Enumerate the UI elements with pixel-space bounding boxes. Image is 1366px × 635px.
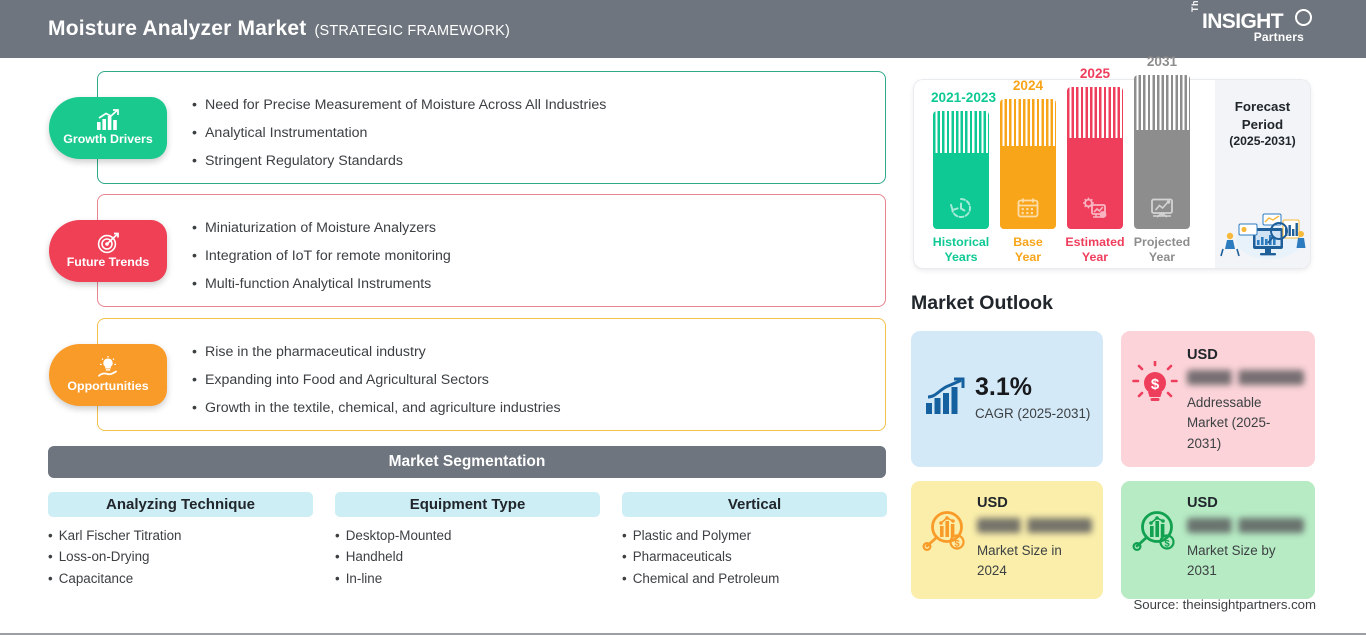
timeline-bar: [1067, 87, 1123, 229]
timeline-bar-striped-top: [933, 111, 989, 153]
segment-list-item: Capacitance: [48, 572, 182, 585]
outlook-card-market-size-2024[interactable]: $ USD Market Size in 2024: [911, 481, 1103, 599]
timeline-bar: [933, 111, 989, 229]
timeline-column-1: 2024 BaseYear: [998, 80, 1058, 268]
driver-list-item: Rise in the pharmaceutical industry: [192, 345, 561, 359]
timeline-bar-name: ProjectedYear: [1124, 235, 1200, 264]
driver-list-2: Rise in the pharmaceutical industryExpan…: [192, 345, 561, 430]
timeline-column-0: 2021-2023 HistoricalYears: [931, 80, 991, 268]
segment-header-text: Vertical: [728, 496, 781, 513]
segmentation-title-bar: Market Segmentation: [48, 446, 886, 478]
logo-the-text: The: [1190, 0, 1200, 12]
magnifier-chart-dollar-icon: $: [1132, 495, 1178, 599]
segment-list-item: In-line: [335, 572, 451, 585]
outlook-card-cagr[interactable]: 3.1% CAGR (2025-2031): [911, 331, 1103, 467]
infographic-canvas: Moisture Analyzer Market(STRATEGIC FRAME…: [0, 0, 1366, 635]
bar-chart-arrow-up-icon: [924, 377, 966, 422]
driver-badge-opportunities[interactable]: Opportunities: [49, 344, 167, 406]
timeline-panel: 2021-2023 HistoricalYears 2024 BaseYear …: [914, 80, 1310, 268]
timeline-bar-solid: [1000, 146, 1056, 229]
timeline-column-2: 2025 EstimatedYear: [1065, 80, 1125, 268]
analytics-dashboard-illustration-icon: [1217, 200, 1309, 262]
driver-list-0: Need for Precise Measurement of Moisture…: [192, 98, 606, 183]
card-caption: Market Size in 2024: [977, 541, 1092, 582]
timeline-year-label: 2024: [998, 78, 1058, 93]
driver-badge-future-trends[interactable]: Future Trends: [49, 220, 167, 282]
card-caption: Market Size by 2031: [1187, 541, 1304, 582]
insight-partners-logo: The INSIGHT Partners: [1190, 10, 1310, 50]
lightbulb-dollar-icon: $: [1132, 361, 1178, 405]
driver-list-1: Miniaturization of Moisture AnalyzersInt…: [192, 221, 451, 306]
driver-list-item: Need for Precise Measurement of Moisture…: [192, 98, 606, 112]
segment-list-item: Loss-on-Drying: [48, 550, 182, 563]
segment-header-text: Analyzing Technique: [106, 496, 255, 513]
svg-text:$: $: [1164, 539, 1170, 550]
driver-list-item: Multi-function Analytical Instruments: [192, 277, 451, 291]
forecast-range: (2025-2031): [1229, 134, 1295, 148]
timeline-year-label: 2031: [1132, 54, 1192, 69]
segment-list-0: Karl Fischer TitrationLoss-on-DryingCapa…: [48, 529, 182, 593]
driver-list-item: Growth in the textile, chemical, and agr…: [192, 401, 561, 415]
card-currency-label: USD: [977, 495, 1092, 511]
timeline-column-3: 2031 ProjectedYear: [1132, 80, 1192, 268]
driver-badge-label: Growth Drivers: [63, 132, 153, 146]
cagr-caption: CAGR (2025-2031): [975, 404, 1090, 424]
driver-list-item: Stringent Regulatory Standards: [192, 154, 606, 168]
driver-list-item: Expanding into Food and Agricultural Sec…: [192, 373, 561, 387]
timeline-bar-striped-top: [1134, 75, 1190, 130]
outlook-card-market-size-2031[interactable]: $ USD Market Size by 2031: [1121, 481, 1315, 599]
svg-text:$: $: [1151, 376, 1160, 393]
timeline-bar-striped-top: [1000, 99, 1056, 146]
magnifier-chart-dollar-icon: $: [922, 509, 968, 553]
timeline-bar-name: HistoricalYears: [923, 235, 999, 264]
timeline-bar-striped-top: [1067, 87, 1123, 138]
timeline-bar-solid: [933, 153, 989, 229]
cagr-value: 3.1%: [975, 374, 1090, 402]
magnifier-chart-dollar-icon: $: [1132, 509, 1178, 553]
page-title-text: Moisture Analyzer Market: [48, 17, 306, 40]
page-subtitle-text: (STRATEGIC FRAMEWORK): [314, 23, 510, 39]
segment-list-item: Karl Fischer Titration: [48, 529, 182, 542]
page-header: Moisture Analyzer Market(STRATEGIC FRAME…: [0, 0, 1366, 58]
source-text: Source: theinsightpartners.com: [1133, 597, 1316, 612]
forecast-period-panel: Forecast Period (2025-2031): [1215, 80, 1310, 268]
segment-list-1: Desktop-MountedHandheldIn-line: [335, 529, 451, 593]
logo-partners-text: Partners: [1254, 30, 1304, 44]
driver-badge-label: Opportunities: [67, 379, 148, 393]
segment-list-item: Chemical and Petroleum: [622, 572, 779, 585]
page-title: Moisture Analyzer Market(STRATEGIC FRAME…: [48, 17, 510, 41]
timeline-year-label: 2021-2023: [931, 90, 991, 105]
card-caption: Addressable Market (2025-2031): [1187, 393, 1304, 454]
segment-list-item: Desktop-Mounted: [335, 529, 451, 542]
timeline-bar-solid: [1067, 138, 1123, 229]
card-blurred-value: [1187, 370, 1304, 385]
magnifier-chart-dollar-icon: $: [922, 495, 968, 599]
lightbulb-dollar-icon: $: [1132, 347, 1178, 467]
card-blurred-value: [1187, 518, 1304, 533]
segmentation-title-text: Market Segmentation: [389, 453, 546, 471]
timeline-bar: [1000, 99, 1056, 229]
segment-header-1: Equipment Type: [335, 492, 600, 517]
segment-list-item: Pharmaceuticals: [622, 550, 779, 563]
card-blurred-value: [977, 518, 1092, 533]
card-currency-label: USD: [1187, 347, 1304, 363]
segment-list-item: Plastic and Polymer: [622, 529, 779, 542]
driver-badge-growth-drivers[interactable]: Growth Drivers: [49, 97, 167, 159]
driver-list-item: Integration of IoT for remote monitoring: [192, 249, 451, 263]
timeline-year-label: 2025: [1065, 66, 1125, 81]
segment-header-0: Analyzing Technique: [48, 492, 313, 517]
logo-ring-icon: [1295, 9, 1312, 26]
segment-header-text: Equipment Type: [410, 496, 526, 513]
outlook-card-addressable-market[interactable]: $ USD Addressable Market (2025-2031): [1121, 331, 1315, 467]
driver-list-item: Miniaturization of Moisture Analyzers: [192, 221, 451, 235]
bar-chart-arrow-up-icon: [924, 377, 966, 417]
card-currency-label: USD: [1187, 495, 1304, 511]
svg-text:$: $: [954, 539, 960, 550]
timeline-bar-name: BaseYear: [990, 235, 1066, 264]
forecast-title: Forecast Period: [1215, 98, 1310, 133]
timeline-bar-name: EstimatedYear: [1057, 235, 1133, 264]
timeline-bar-solid: [1134, 130, 1190, 229]
market-outlook-heading: Market Outlook: [911, 292, 1053, 315]
driver-list-item: Analytical Instrumentation: [192, 126, 606, 140]
driver-badge-label: Future Trends: [67, 255, 150, 269]
timeline-bar: [1134, 75, 1190, 229]
segment-list-item: Handheld: [335, 550, 451, 563]
segment-header-2: Vertical: [622, 492, 887, 517]
segment-list-2: Plastic and PolymerPharmaceuticalsChemic…: [622, 529, 779, 593]
